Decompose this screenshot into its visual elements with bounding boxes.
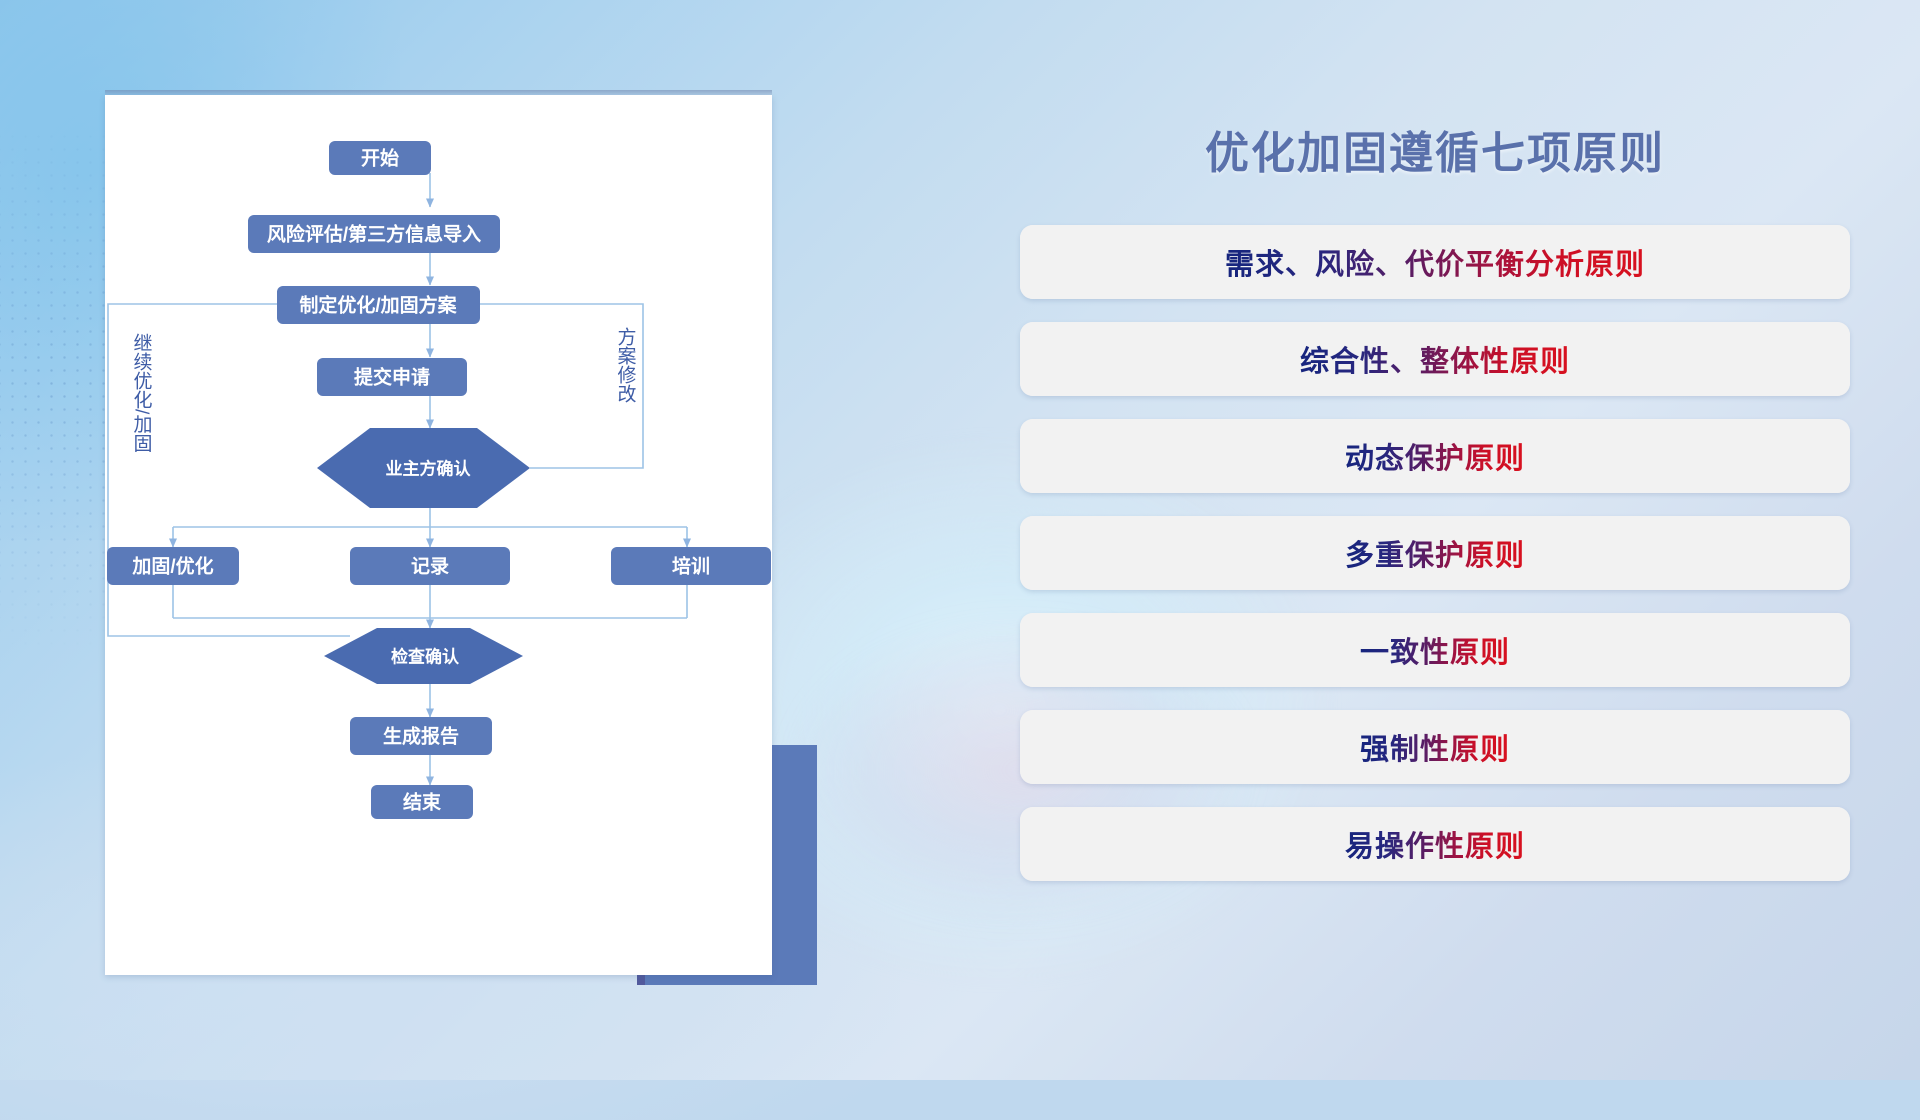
principle-card-5[interactable]: 一致性原则 — [1020, 613, 1850, 687]
node-plan-label: 制定优化/加固方案 — [299, 294, 457, 317]
principle-card-4[interactable]: 多重保护原则 — [1020, 516, 1850, 590]
node-submit-label: 提交申请 — [354, 366, 430, 389]
principle-label-6: 强制性原则 — [1360, 726, 1510, 768]
node-risk-label: 风险评估/第三方信息导入 — [267, 223, 481, 246]
node-start-label: 开始 — [361, 147, 399, 170]
principle-label-2: 综合性、整体性原则 — [1300, 338, 1570, 380]
node-submit[interactable]: 提交申请 — [317, 358, 467, 396]
node-report-label: 生成报告 — [383, 725, 459, 748]
node-reinforce[interactable]: 加固/优化 — [107, 547, 239, 585]
edge-label-continue-optimize: 继续优化/加固 — [131, 333, 153, 453]
node-start[interactable]: 开始 — [329, 141, 431, 175]
node-training-label: 培训 — [672, 555, 710, 578]
principle-label-3: 动态保护原则 — [1345, 435, 1525, 477]
principle-card-1[interactable]: 需求、风险、代价平衡分析原则 — [1020, 225, 1850, 299]
principles-list: 需求、风险、代价平衡分析原则 综合性、整体性原则 动态保护原则 多重保护原则 一… — [1020, 225, 1850, 881]
node-end[interactable]: 结束 — [371, 785, 473, 819]
page-title: 优化加固遵循七项原则 — [1020, 117, 1850, 181]
principle-card-3[interactable]: 动态保护原则 — [1020, 419, 1850, 493]
node-plan[interactable]: 制定优化/加固方案 — [277, 286, 480, 324]
principle-card-6[interactable]: 强制性原则 — [1020, 710, 1850, 784]
node-owner-label: 业主方确认 — [386, 459, 472, 479]
node-reinforce-label: 加固/优化 — [131, 555, 213, 578]
principles-panel: 优化加固遵循七项原则 需求、风险、代价平衡分析原则 综合性、整体性原则 动态保护… — [1020, 95, 1850, 995]
node-record[interactable]: 记录 — [350, 547, 510, 585]
node-owner-confirm[interactable]: 业主方确认 — [317, 428, 530, 508]
principle-label-4: 多重保护原则 — [1345, 532, 1525, 574]
edge-label-plan-revision: 方案修改 — [615, 327, 637, 403]
flowchart-diagram: 开始 风险评估/第三方信息导入 制定优化/加固方案 提交申请 业主方确认 加固/… — [105, 95, 772, 975]
principle-card-2[interactable]: 综合性、整体性原则 — [1020, 322, 1850, 396]
node-training[interactable]: 培训 — [611, 547, 771, 585]
principle-label-7: 易操作性原则 — [1345, 823, 1525, 865]
principle-label-1: 需求、风险、代价平衡分析原则 — [1225, 241, 1645, 283]
node-record-label: 记录 — [411, 556, 449, 578]
node-check-confirm[interactable]: 检查确认 — [324, 628, 523, 684]
principle-label-5: 一致性原则 — [1360, 629, 1510, 671]
node-risk-assessment[interactable]: 风险评估/第三方信息导入 — [248, 215, 500, 253]
node-end-label: 结束 — [403, 791, 442, 814]
node-report[interactable]: 生成报告 — [350, 717, 492, 755]
principle-card-7[interactable]: 易操作性原则 — [1020, 807, 1850, 881]
node-check-label: 检查确认 — [391, 647, 460, 667]
